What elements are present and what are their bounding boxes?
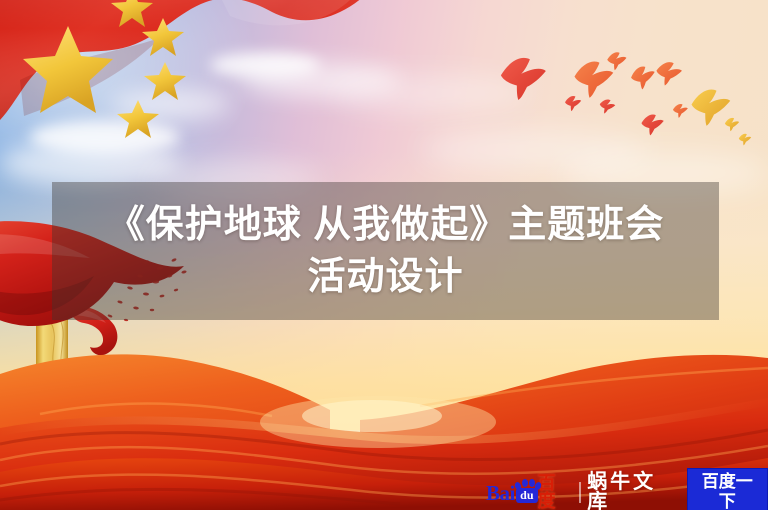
bird-8 xyxy=(641,114,663,135)
baidu-wordmark-chinese: 百度 xyxy=(538,474,572,510)
bird-5 xyxy=(692,90,731,126)
bird-2 xyxy=(575,62,614,98)
poster-canvas: 《保护地球 从我做起》主题班会 活动设计 Bai du 百度 蜗牛文库 百度一下 xyxy=(0,0,768,510)
bird-9 xyxy=(673,104,688,118)
baidu-search-button[interactable]: 百度一下 xyxy=(687,468,768,510)
baidu-wordmark-latin: Bai xyxy=(486,483,515,504)
title-overlay-band: 《保护地球 从我做起》主题班会 活动设计 xyxy=(52,182,719,320)
bird-12 xyxy=(607,52,626,70)
bird-11 xyxy=(739,134,751,146)
flag-star-3 xyxy=(144,62,186,100)
page-title-line-1: 《保护地球 从我做起》主题班会 xyxy=(107,199,665,251)
bird-10 xyxy=(725,118,739,131)
baidu-logo[interactable]: Bai du 百度 xyxy=(486,479,571,505)
watermark-divider xyxy=(579,482,581,503)
baidu-du-badge: du xyxy=(516,488,538,503)
flag-star-4 xyxy=(117,100,159,138)
page-title-line-2: 活动设计 xyxy=(307,251,463,303)
bird-4 xyxy=(655,61,683,87)
bird-3 xyxy=(630,65,657,91)
bird-1 xyxy=(501,58,546,100)
site-brand-name: 蜗牛文库 xyxy=(587,472,678,510)
flying-birds-flock xyxy=(480,45,768,165)
bird-7 xyxy=(598,98,616,115)
watermark-bar: Bai du 百度 蜗牛文库 百度一下 xyxy=(486,478,768,506)
china-national-flag xyxy=(0,0,420,210)
baidu-paw-icon: du xyxy=(514,480,541,504)
bird-6 xyxy=(565,96,581,111)
